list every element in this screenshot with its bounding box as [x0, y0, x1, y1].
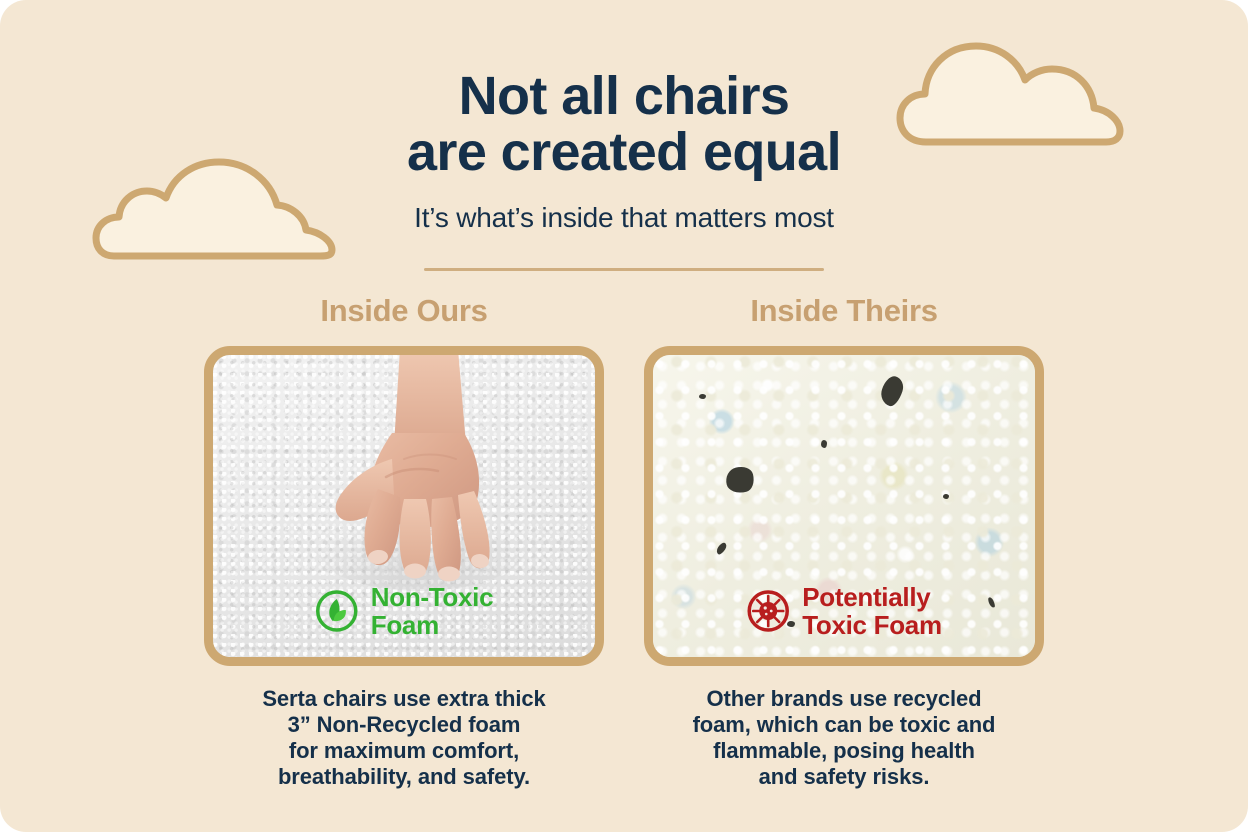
caption-ours-line-3: for maximum comfort, — [204, 738, 604, 764]
badge-label-line-2: Foam — [371, 611, 493, 639]
caption-theirs-line-3: flammable, posing health — [644, 738, 1044, 764]
card-inside-ours: Non-Toxic Foam — [204, 346, 604, 666]
headline-line-1: Not all chairs — [0, 68, 1248, 124]
badge-potentially-toxic-foam: Potentially Toxic Foam — [746, 583, 942, 639]
caption-theirs: Other brands use recycled foam, which ca… — [644, 686, 1044, 790]
header-divider — [424, 268, 824, 271]
foam-speck — [987, 596, 996, 608]
germ-circle-icon — [746, 589, 790, 633]
card-inside-theirs: Potentially Toxic Foam — [644, 346, 1044, 666]
foam-speck — [821, 440, 827, 448]
headline-line-2: are created equal — [0, 124, 1248, 180]
foam-speck — [878, 374, 906, 409]
foam-speck — [715, 541, 728, 556]
column-inside-ours: Inside Ours — [204, 292, 604, 790]
caption-ours-line-1: Serta chairs use extra thick — [204, 686, 604, 712]
caption-ours-line-2: 3” Non-Recycled foam — [204, 712, 604, 738]
caption-ours: Serta chairs use extra thick 3” Non-Recy… — [204, 686, 604, 790]
caption-theirs-line-2: foam, which can be toxic and — [644, 712, 1044, 738]
column-title-ours: Inside Ours — [320, 292, 487, 330]
caption-ours-line-4: breathability, and safety. — [204, 764, 604, 790]
comparison-section: Inside Ours — [0, 292, 1248, 790]
badge-label-non-toxic: Non-Toxic Foam — [371, 583, 493, 639]
caption-theirs-line-4: and safety risks. — [644, 764, 1044, 790]
foam-speck — [943, 494, 949, 499]
foam-speck — [723, 464, 756, 496]
badge-label-line-2: Toxic Foam — [802, 611, 942, 639]
page-title: Not all chairs are created equal — [0, 0, 1248, 180]
hand-on-foam-image — [308, 355, 538, 599]
leaf-circle-icon — [315, 589, 359, 633]
badge-label-line-1: Non-Toxic — [371, 583, 493, 611]
infographic-page: Not all chairs are created equal It’s wh… — [0, 0, 1248, 832]
badge-label-line-1: Potentially — [802, 583, 942, 611]
page-subtitle: It’s what’s inside that matters most — [0, 180, 1248, 234]
column-title-theirs: Inside Theirs — [750, 292, 937, 330]
foam-speck — [699, 394, 706, 399]
column-inside-theirs: Inside Theirs — [644, 292, 1044, 790]
badge-label-toxic: Potentially Toxic Foam — [802, 583, 942, 639]
caption-theirs-line-1: Other brands use recycled — [644, 686, 1044, 712]
header: Not all chairs are created equal It’s wh… — [0, 0, 1248, 271]
badge-non-toxic-foam: Non-Toxic Foam — [315, 583, 493, 639]
